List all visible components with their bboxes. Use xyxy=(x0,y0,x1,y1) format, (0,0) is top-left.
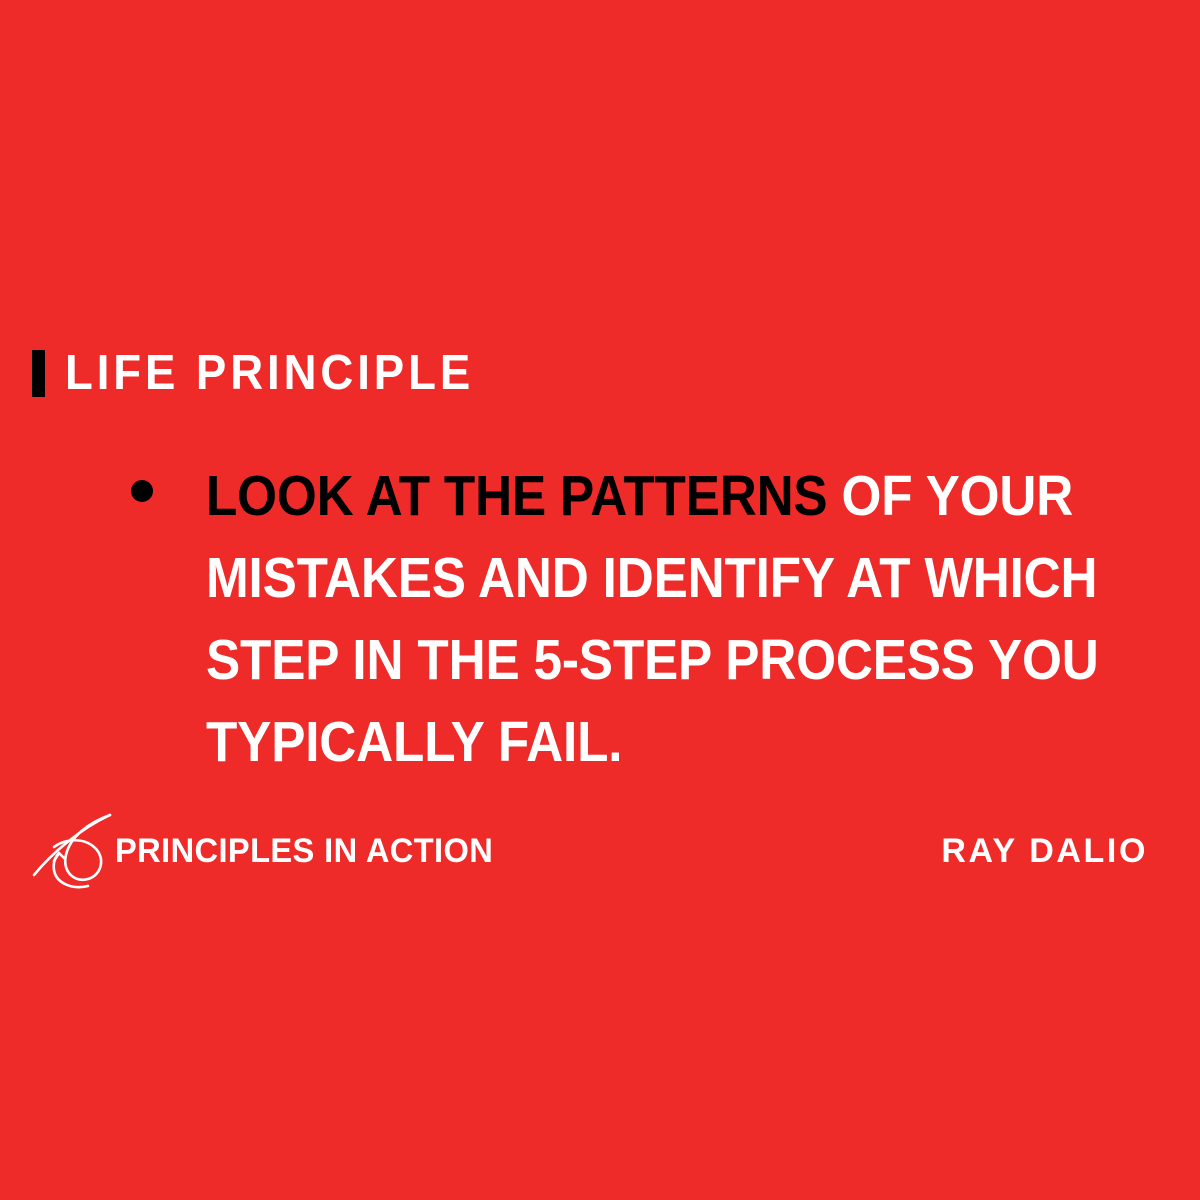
quote-block: LOOK AT THE PATTERNS OF YOUR MISTAKES AN… xyxy=(125,455,1155,783)
eyebrow-label: LIFE PRINCIPLE xyxy=(65,349,474,398)
footer: PRINCIPLES IN ACTION RAY DALIO xyxy=(0,812,1200,892)
brand-lockup: PRINCIPLES IN ACTION xyxy=(32,812,509,892)
quote-line: MISTAKES AND IDENTIFY AT WHICH xyxy=(206,537,1060,619)
quote-highlight: LOOK AT THE PATTERNS xyxy=(206,464,827,528)
quote-text: STEP IN THE 5-STEP PROCESS YOU xyxy=(206,628,1099,692)
author-name: RAY DALIO xyxy=(941,834,1148,868)
quote-lines: LOOK AT THE PATTERNS OF YOUR MISTAKES AN… xyxy=(206,455,1155,783)
quote-line: STEP IN THE 5-STEP PROCESS YOU xyxy=(206,619,1060,701)
quote-text: MISTAKES AND IDENTIFY AT WHICH xyxy=(206,546,1097,610)
bullet-point-icon xyxy=(131,480,153,502)
quote-text: TYPICALLY FAIL. xyxy=(206,710,622,774)
quote-line: LOOK AT THE PATTERNS OF YOUR xyxy=(206,455,1060,537)
principles-spiral-arrow-logo-icon xyxy=(32,813,112,891)
eyebrow-accent-bar xyxy=(32,350,45,397)
quote-text: OF YOUR xyxy=(827,464,1073,528)
quote-card: LIFE PRINCIPLE LOOK AT THE PATTERNS OF Y… xyxy=(0,0,1200,1200)
quote-line: TYPICALLY FAIL. xyxy=(206,701,1060,783)
eyebrow: LIFE PRINCIPLE xyxy=(32,346,505,400)
brand-name: PRINCIPLES IN ACTION xyxy=(115,834,493,870)
